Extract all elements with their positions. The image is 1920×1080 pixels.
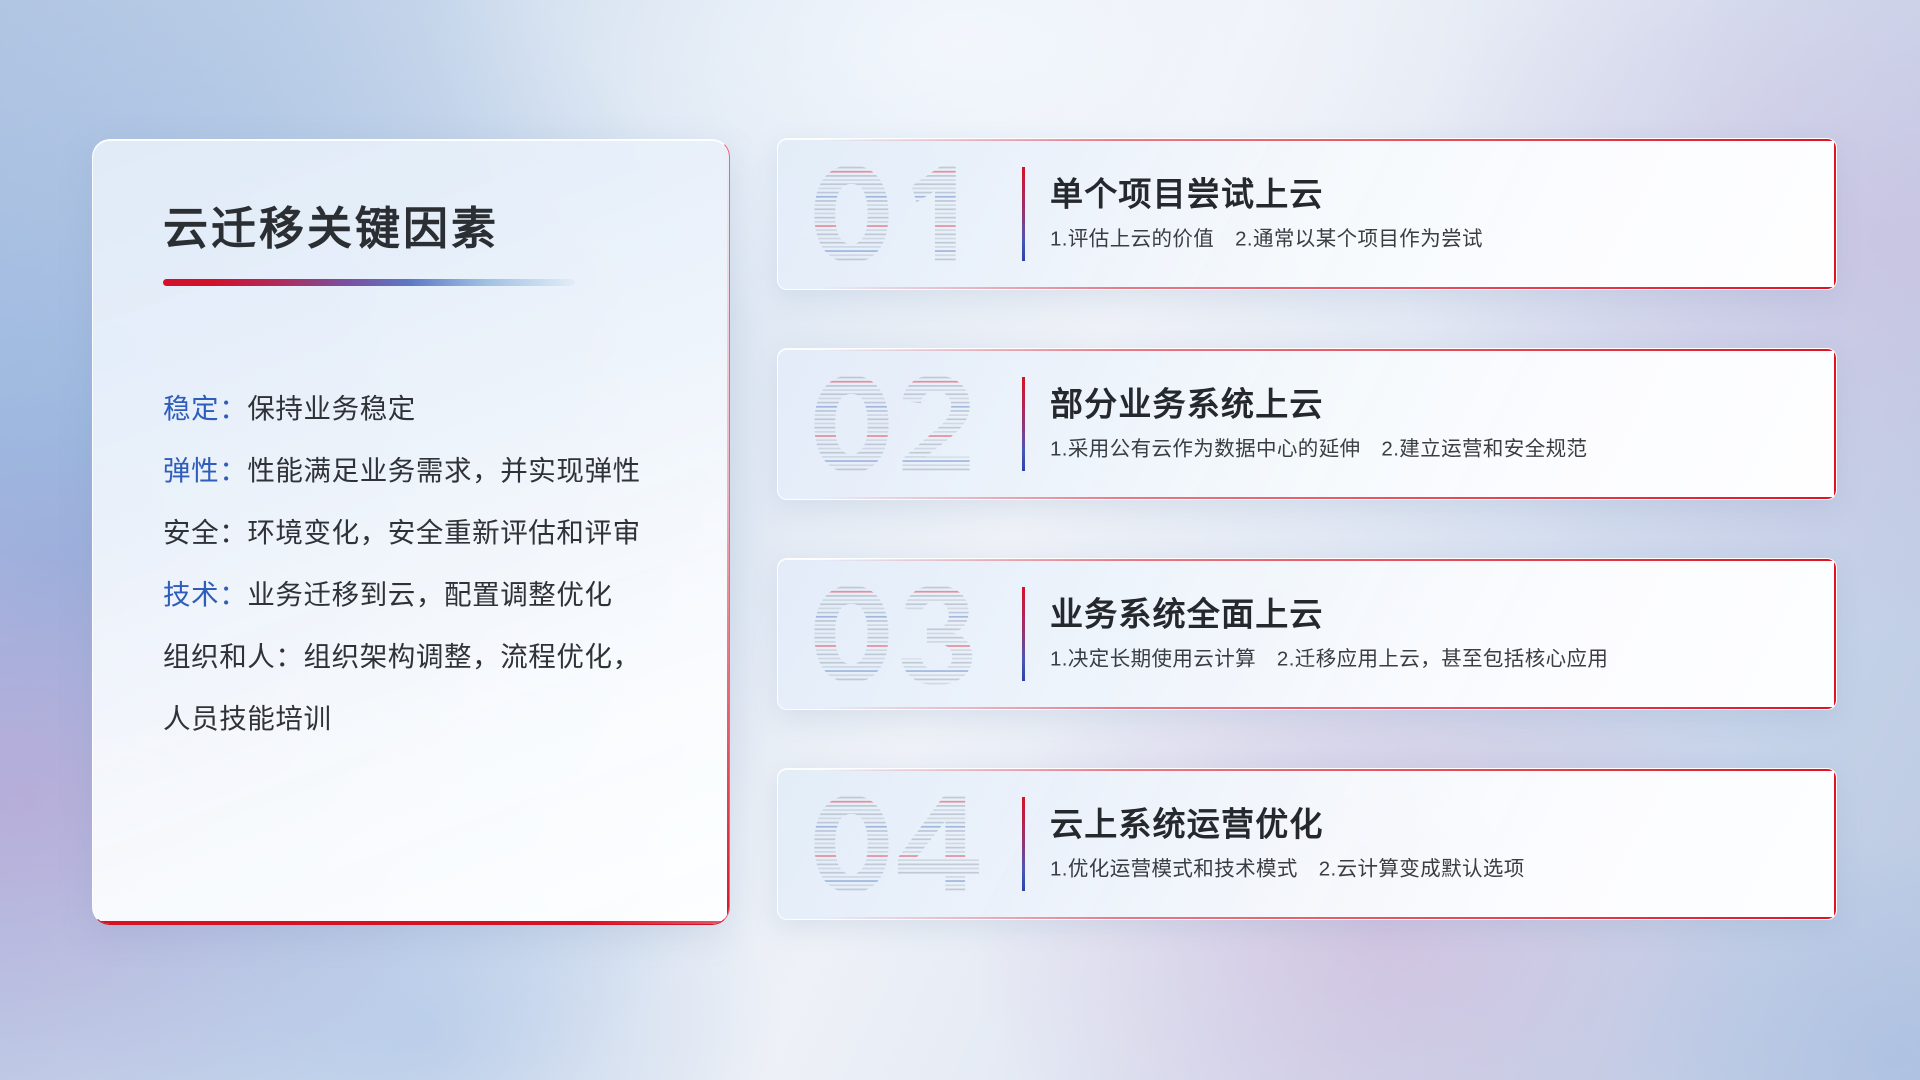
slide-stage: 云迁移关键因素 稳定：保持业务稳定弹性：性能满足业务需求，并实现弹性安全：环境变… xyxy=(0,0,1920,1080)
factor-value: 性能满足业务需求，并实现弹性 xyxy=(247,455,640,486)
factor-list: 稳定：保持业务稳定弹性：性能满足业务需求，并实现弹性安全：环境变化，安全重新评估… xyxy=(93,378,729,750)
card-title: 云上系统运营优化 xyxy=(1050,806,1814,845)
card-divider-bar xyxy=(1022,797,1025,891)
stage-card-list: 单个项目尝试上云1.评估上云的价值 2.通常以某个项目作为尝试部分业务系统上云1… xyxy=(777,138,1837,920)
key-factors-panel: 云迁移关键因素 稳定：保持业务稳定弹性：性能满足业务需求，并实现弹性安全：环境变… xyxy=(92,139,730,925)
card-subtitle: 1.决定长期使用云计算 2.迁移应用上云，甚至包括核心应用 xyxy=(1050,647,1814,673)
card-subtitle: 1.评估上云的价值 2.通常以某个项目作为尝试 xyxy=(1050,227,1814,253)
stage-card[interactable]: 单个项目尝试上云1.评估上云的价值 2.通常以某个项目作为尝试 xyxy=(777,138,1837,290)
card-divider-bar xyxy=(1022,587,1025,681)
card-divider-bar xyxy=(1022,377,1025,471)
card-body: 业务系统全面上云1.决定长期使用云计算 2.迁移应用上云，甚至包括核心应用 xyxy=(1050,596,1814,673)
factor-row: 人员技能培训 xyxy=(163,688,683,750)
card-body: 云上系统运营优化1.优化运营模式和技术模式 2.云计算变成默认选项 xyxy=(1050,806,1814,883)
card-accent-top-edge xyxy=(820,349,1836,351)
factor-row: 技术：业务迁移到云，配置调整优化 xyxy=(163,564,683,626)
card-accent-bottom-edge xyxy=(820,917,1836,919)
stage-card[interactable]: 业务系统全面上云1.决定长期使用云计算 2.迁移应用上云，甚至包括核心应用 xyxy=(777,558,1837,710)
card-title: 部分业务系统上云 xyxy=(1050,386,1814,425)
card-accent-right-edge xyxy=(1834,769,1836,919)
factor-value: 业务迁移到云，配置调整优化 xyxy=(247,579,612,610)
card-body: 部分业务系统上云1.采用公有云作为数据中心的延伸 2.建立运营和安全规范 xyxy=(1050,386,1814,463)
card-accent-right-edge xyxy=(1834,139,1836,289)
factor-label: 技术： xyxy=(163,579,247,610)
factor-label: 组织和人： xyxy=(163,641,304,672)
card-step-number xyxy=(812,786,1002,902)
stage-card[interactable]: 部分业务系统上云1.采用公有云作为数据中心的延伸 2.建立运营和安全规范 xyxy=(777,348,1837,500)
factor-row: 弹性：性能满足业务需求，并实现弹性 xyxy=(163,440,683,502)
card-title: 业务系统全面上云 xyxy=(1050,596,1814,635)
card-step-number xyxy=(812,576,1002,692)
card-accent-top-edge xyxy=(820,139,1836,141)
card-step-number xyxy=(812,366,1002,482)
factor-row: 稳定：保持业务稳定 xyxy=(163,378,683,440)
card-accent-bottom-edge xyxy=(820,497,1836,499)
factor-value: 保持业务稳定 xyxy=(247,393,416,424)
factor-value: 环境变化，安全重新评估和评审 xyxy=(247,517,640,548)
card-title: 单个项目尝试上云 xyxy=(1050,176,1814,215)
card-accent-right-edge xyxy=(1834,349,1836,499)
card-body: 单个项目尝试上云1.评估上云的价值 2.通常以某个项目作为尝试 xyxy=(1050,176,1814,253)
title-underline-accent xyxy=(163,279,575,286)
factor-label: 稳定： xyxy=(163,393,247,424)
factor-label: 安全： xyxy=(163,517,247,548)
card-subtitle: 1.优化运营模式和技术模式 2.云计算变成默认选项 xyxy=(1050,857,1814,883)
page-title: 云迁移关键因素 xyxy=(163,192,729,257)
card-accent-bottom-edge xyxy=(820,287,1836,289)
factor-value: 组织架构调整，流程优化， xyxy=(304,641,641,672)
card-divider-bar xyxy=(1022,167,1025,261)
card-accent-top-edge xyxy=(820,559,1836,561)
card-accent-bottom-edge xyxy=(820,707,1836,709)
stage-card[interactable]: 云上系统运营优化1.优化运营模式和技术模式 2.云计算变成默认选项 xyxy=(777,768,1837,920)
factor-row: 组织和人：组织架构调整，流程优化， xyxy=(163,626,683,688)
factor-row: 安全：环境变化，安全重新评估和评审 xyxy=(163,502,683,564)
factor-value: 人员技能培训 xyxy=(163,703,332,734)
factor-label: 弹性： xyxy=(163,455,247,486)
card-accent-top-edge xyxy=(820,769,1836,771)
card-subtitle: 1.采用公有云作为数据中心的延伸 2.建立运营和安全规范 xyxy=(1050,437,1814,463)
card-step-number xyxy=(812,156,1002,272)
card-accent-right-edge xyxy=(1834,559,1836,709)
